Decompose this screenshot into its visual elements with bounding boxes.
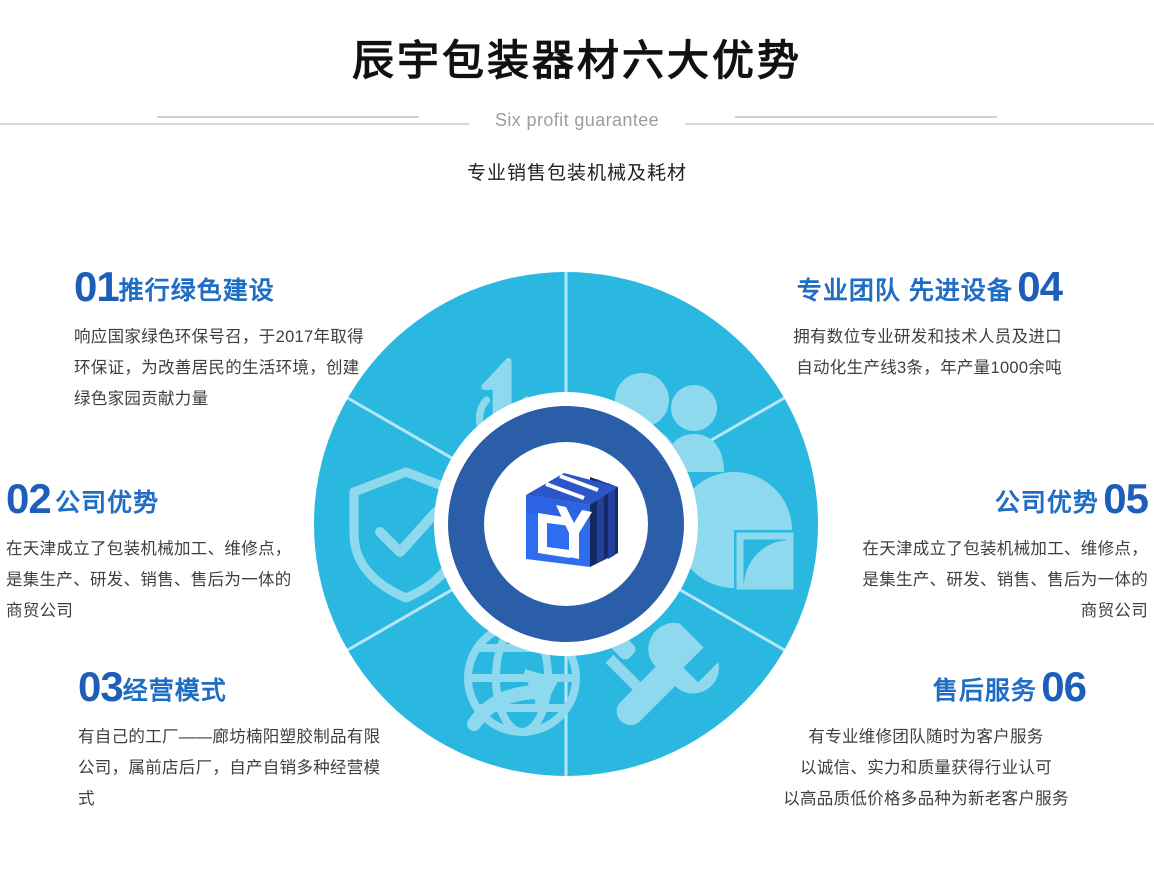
feature-item-03: 03经营模式 有自己的工厂——廊坊楠阳塑胶制品有限公司，属前店后厂，自产自销多种…	[78, 666, 383, 815]
infographic-page: 辰宇包装器材六大优势 Six profit guarantee 专业销售包装机械…	[0, 0, 1154, 894]
feature-02-number: 02	[6, 475, 51, 522]
feature-01-desc: 响应国家绿色环保号召，于2017年取得环保证，为改善居民的生活环境，创建绿色家园…	[74, 322, 374, 415]
feature-01-heading: 01推行绿色建设	[74, 266, 374, 308]
feature-item-05: 公司优势 05 在天津成立了包装机械加工、维修点，是集生产、研发、销售、售后为一…	[858, 478, 1148, 627]
feature-01-number: 01	[74, 263, 119, 310]
feature-item-02: 02 公司优势 在天津成立了包装机械加工、维修点，是集生产、研发、销售、售后为一…	[6, 478, 296, 627]
feature-02-heading: 02 公司优势	[6, 478, 296, 520]
feature-06-heading: 售后服务 06	[766, 666, 1086, 708]
feature-item-04: 专业团队 先进设备 04 拥有数位专业研发和技术人员及进口自动化生产线3条，年产…	[780, 266, 1062, 384]
feature-06-number: 06	[1041, 663, 1086, 710]
feature-item-06: 售后服务 06 有专业维修团队随时为客户服务 以诚信、实力和质量获得行业认可 以…	[766, 666, 1086, 815]
feature-item-01: 01推行绿色建设 响应国家绿色环保号召，于2017年取得环保证，为改善居民的生活…	[74, 266, 374, 415]
feature-05-heading: 公司优势 05	[858, 478, 1148, 520]
page-title: 辰宇包装器材六大优势	[0, 38, 1154, 84]
feature-04-label: 专业团队 先进设备	[797, 277, 1013, 305]
subtitle-english: Six profit guarantee	[0, 110, 1154, 131]
feature-04-desc: 拥有数位专业研发和技术人员及进口自动化生产线3条，年产量1000余吨	[780, 322, 1062, 384]
feature-03-heading: 03经营模式	[78, 666, 383, 708]
subtitle-chinese: 专业销售包装机械及耗材	[0, 158, 1154, 185]
subtitle-english-text: Six profit guarantee	[469, 110, 685, 130]
company-logo: CY	[498, 455, 634, 591]
feature-02-desc: 在天津成立了包装机械加工、维修点，是集生产、研发、销售、售后为一体的商贸公司	[6, 534, 296, 627]
feature-04-heading: 专业团队 先进设备 04	[780, 266, 1062, 308]
feature-02-label: 公司优势	[55, 489, 159, 517]
feature-05-label: 公司优势	[995, 489, 1099, 517]
feature-01-label: 推行绿色建设	[119, 277, 275, 305]
feature-05-number: 05	[1103, 475, 1148, 522]
feature-03-desc: 有自己的工厂——廊坊楠阳塑胶制品有限公司，属前店后厂，自产自销多种经营模式	[78, 722, 383, 815]
feature-03-label: 经营模式	[123, 677, 227, 705]
feature-05-desc: 在天津成立了包装机械加工、维修点，是集生产、研发、销售、售后为一体的商贸公司	[858, 534, 1148, 627]
feature-06-desc: 有专业维修团队随时为客户服务 以诚信、实力和质量获得行业认可 以高品质低价格多品…	[766, 722, 1086, 815]
feature-06-label: 售后服务	[933, 677, 1037, 705]
feature-03-number: 03	[78, 663, 123, 710]
feature-04-number: 04	[1017, 263, 1062, 310]
header: 辰宇包装器材六大优势 Six profit guarantee 专业销售包装机械…	[0, 0, 1154, 200]
